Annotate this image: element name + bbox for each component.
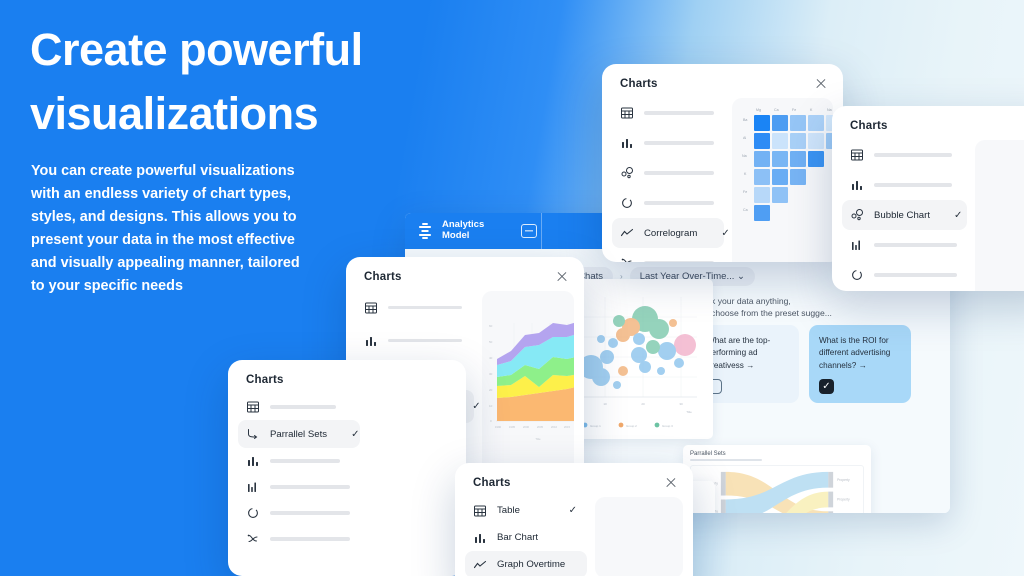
placeholder-bar — [270, 511, 350, 514]
placeholder-bar — [270, 405, 336, 408]
svg-text:1990: 1990 — [495, 425, 502, 429]
card-header: Charts — [346, 257, 584, 289]
placeholder-bar — [874, 183, 952, 186]
stream-graph-svg: 605040 302010 0 19901995 20002005 201020… — [482, 291, 574, 481]
card-title: Charts — [246, 374, 284, 386]
card-body: Bubble Chart ✓ — [832, 138, 1024, 291]
chart-type-label: Parrallel Sets — [270, 429, 327, 440]
bar-chart-icon — [620, 136, 634, 150]
card-title: Charts — [850, 120, 888, 132]
selected-check-icon: ✓ — [707, 228, 729, 239]
chart-type-option[interactable] — [356, 324, 474, 357]
page-title: Create powerful visualizations — [30, 18, 500, 146]
chart-type-option[interactable] — [238, 394, 360, 420]
svg-text:Property: Property — [837, 497, 850, 501]
line-chart-icon — [620, 226, 634, 240]
chart-type-option[interactable] — [842, 290, 967, 291]
svg-text:2000: 2000 — [523, 425, 530, 429]
hero-body-text: You can create powerful visualizations w… — [31, 160, 311, 298]
chart-type-option[interactable] — [612, 188, 724, 218]
histogram-icon — [246, 480, 260, 494]
bar-chart-icon — [364, 334, 378, 348]
suggestion-checkbox[interactable]: ✓ — [819, 379, 834, 394]
close-icon[interactable] — [556, 271, 568, 283]
card-title: Charts — [364, 271, 402, 283]
chart-type-label: Correlogram — [644, 228, 697, 239]
chart-type-option-graph-overtime[interactable]: Graph Overtime — [465, 551, 587, 576]
charts-picker-correlogram[interactable]: Charts — [602, 64, 843, 262]
chart-type-list: Table ✓ Bar Chart Graph Overtime — [465, 497, 587, 576]
ask-line-1: Ask your data anything, — [701, 296, 791, 306]
bar-chart-icon — [473, 531, 487, 545]
table-icon — [364, 301, 378, 315]
preset-suggestions: What are the top-performing ad creatives… — [697, 325, 911, 403]
charts-picker-table[interactable]: Charts Table ✓ Bar Chart Graph Overtime — [455, 463, 693, 576]
parallel-icon — [246, 427, 260, 441]
analytics-logo-icon — [417, 223, 433, 239]
donut-icon — [850, 268, 864, 282]
sankey-icon — [246, 532, 260, 546]
svg-text:60: 60 — [489, 324, 493, 328]
svg-text:2005: 2005 — [537, 425, 544, 429]
table-icon — [473, 504, 487, 518]
chart-type-option[interactable] — [612, 248, 724, 262]
card-body: Correlogram ✓ Mg Ca Fe K Na Al — [602, 96, 843, 262]
chart-type-label: Bar Chart — [497, 532, 538, 543]
bubble-icon — [850, 208, 864, 222]
placeholder-bar — [644, 111, 714, 114]
ask-prompt-text: Ask your data anything, or choose from t… — [701, 295, 832, 320]
placeholder-bar — [644, 141, 714, 144]
table-icon — [850, 148, 864, 162]
chart-type-label: Table — [497, 505, 520, 516]
svg-text:2015: 2015 — [564, 425, 571, 429]
placeholder-bar — [388, 339, 462, 342]
chart-type-option-correlogram[interactable]: Correlogram ✓ — [612, 218, 724, 248]
placeholder-bar — [644, 201, 714, 204]
card-body: Parrallel Sets ✓ — [228, 392, 466, 566]
ask-line-2: or choose from the preset sugge... — [701, 308, 832, 318]
chart-type-list: Bubble Chart ✓ — [842, 140, 967, 291]
suggestion-text: What is the ROI for different advertisin… — [819, 336, 890, 370]
charts-picker-parallel[interactable]: Charts Parrallel Sets ✓ — [228, 360, 466, 576]
bar-chart-icon — [246, 454, 260, 468]
chart-type-option[interactable] — [612, 128, 724, 158]
svg-text:10: 10 — [489, 404, 493, 408]
placeholder-bar — [644, 261, 714, 262]
app-title: Analytics Model — [442, 220, 484, 241]
chart-type-list: Parrallel Sets ✓ — [238, 394, 360, 552]
chart-type-list: Correlogram ✓ — [612, 98, 724, 262]
svg-text:30: 30 — [489, 372, 493, 376]
table-icon — [246, 400, 260, 414]
placeholder-bar — [874, 153, 952, 156]
card-header: Charts — [228, 360, 466, 392]
chart-type-option[interactable] — [842, 170, 967, 200]
histogram-icon — [850, 238, 864, 252]
table-preview — [595, 497, 683, 576]
chart-type-option-bar[interactable]: Bar Chart — [465, 524, 587, 551]
svg-text:Title: Title — [535, 437, 541, 441]
parallel-sets-subtitle-bar — [690, 459, 762, 461]
chart-type-label: Graph Overtime — [497, 559, 565, 570]
placeholder-bar — [388, 306, 462, 309]
card-title: Charts — [620, 78, 658, 90]
svg-text:20: 20 — [641, 402, 645, 406]
chart-type-label: Bubble Chart — [874, 210, 930, 221]
selected-check-icon: ✓ — [555, 505, 577, 516]
chevron-down-icon: ⌄ — [737, 271, 745, 282]
svg-text:0: 0 — [490, 419, 492, 423]
svg-text:Title: Title — [686, 410, 692, 414]
placeholder-bar — [874, 273, 957, 276]
svg-text:50: 50 — [489, 340, 493, 344]
bar-chart-icon — [850, 178, 864, 192]
chart-type-option[interactable] — [238, 526, 360, 552]
heatmap: Mg Ca Fe K Na Al Ba Al Na K Fe Ca — [754, 114, 821, 262]
placeholder-bar — [874, 243, 957, 246]
bubble-icon — [620, 166, 634, 180]
chart-type-option[interactable] — [238, 500, 360, 526]
card-header: Charts — [602, 64, 843, 96]
chart-type-option-table[interactable]: Table ✓ — [465, 497, 587, 524]
chart-type-option[interactable] — [842, 140, 967, 170]
close-icon[interactable] — [665, 477, 677, 489]
suggestion-card[interactable]: What is the ROI for different advertisin… — [809, 325, 911, 403]
parallel-preview — [368, 394, 456, 552]
svg-text:2010: 2010 — [551, 425, 558, 429]
placeholder-bar — [270, 537, 350, 540]
parallel-sets-title: Parrallel Sets — [690, 451, 864, 457]
donut-icon — [246, 506, 260, 520]
placeholder-bar — [644, 171, 714, 174]
table-icon — [620, 106, 634, 120]
slide-canvas: Create powerful visualizations You can c… — [0, 0, 1024, 576]
selected-check-icon: ✓ — [940, 210, 962, 221]
selected-check-icon: ✓ — [337, 429, 359, 440]
card-title: Charts — [473, 477, 511, 489]
svg-text:10: 10 — [603, 402, 607, 406]
stream-graph-preview: 605040 302010 0 19901995 20002005 201020… — [482, 291, 574, 484]
close-icon[interactable] — [815, 78, 827, 90]
chart-type-option[interactable] — [356, 291, 474, 324]
chart-type-option[interactable] — [612, 98, 724, 128]
charts-picker-bubble[interactable]: Charts Bubble Chart ✓ — [832, 106, 1024, 291]
card-header: Charts — [832, 106, 1024, 138]
svg-text:30: 30 — [679, 402, 683, 406]
svg-text:Group 2: Group 2 — [626, 424, 637, 428]
bubble-preview — [975, 140, 1024, 291]
svg-text:Property: Property — [837, 478, 850, 482]
minimize-icon[interactable] — [521, 224, 537, 238]
correlogram-preview: Mg Ca Fe K Na Al Ba Al Na K Fe Ca — [732, 98, 833, 262]
chart-type-option[interactable] — [238, 448, 360, 474]
card-body: Table ✓ Bar Chart Graph Overtime — [455, 495, 693, 576]
svg-text:40: 40 — [489, 356, 493, 360]
chart-type-option[interactable] — [842, 230, 967, 260]
chart-type-option[interactable] — [238, 474, 360, 500]
chart-type-option-bubble[interactable]: Bubble Chart ✓ — [842, 200, 967, 230]
placeholder-bar — [270, 485, 350, 488]
chart-type-option[interactable] — [612, 158, 724, 188]
svg-text:Group 1: Group 1 — [590, 424, 601, 428]
svg-text:20: 20 — [489, 388, 493, 392]
svg-text:Group 3: Group 3 — [662, 424, 673, 428]
chart-type-option-parallel[interactable]: Parrallel Sets ✓ — [238, 420, 360, 448]
suggestion-text: What are the top-performing ad creatives… — [707, 336, 770, 370]
card-header: Charts — [455, 463, 693, 495]
chart-type-option[interactable] — [842, 260, 967, 290]
donut-icon — [620, 196, 634, 210]
svg-text:1995: 1995 — [509, 425, 516, 429]
line-chart-icon — [473, 558, 487, 572]
placeholder-bar — [270, 459, 340, 462]
sankey-icon — [620, 256, 634, 262]
parallel-sets-svg: PropertyProperty PropertyProperty Proper… — [690, 465, 864, 513]
